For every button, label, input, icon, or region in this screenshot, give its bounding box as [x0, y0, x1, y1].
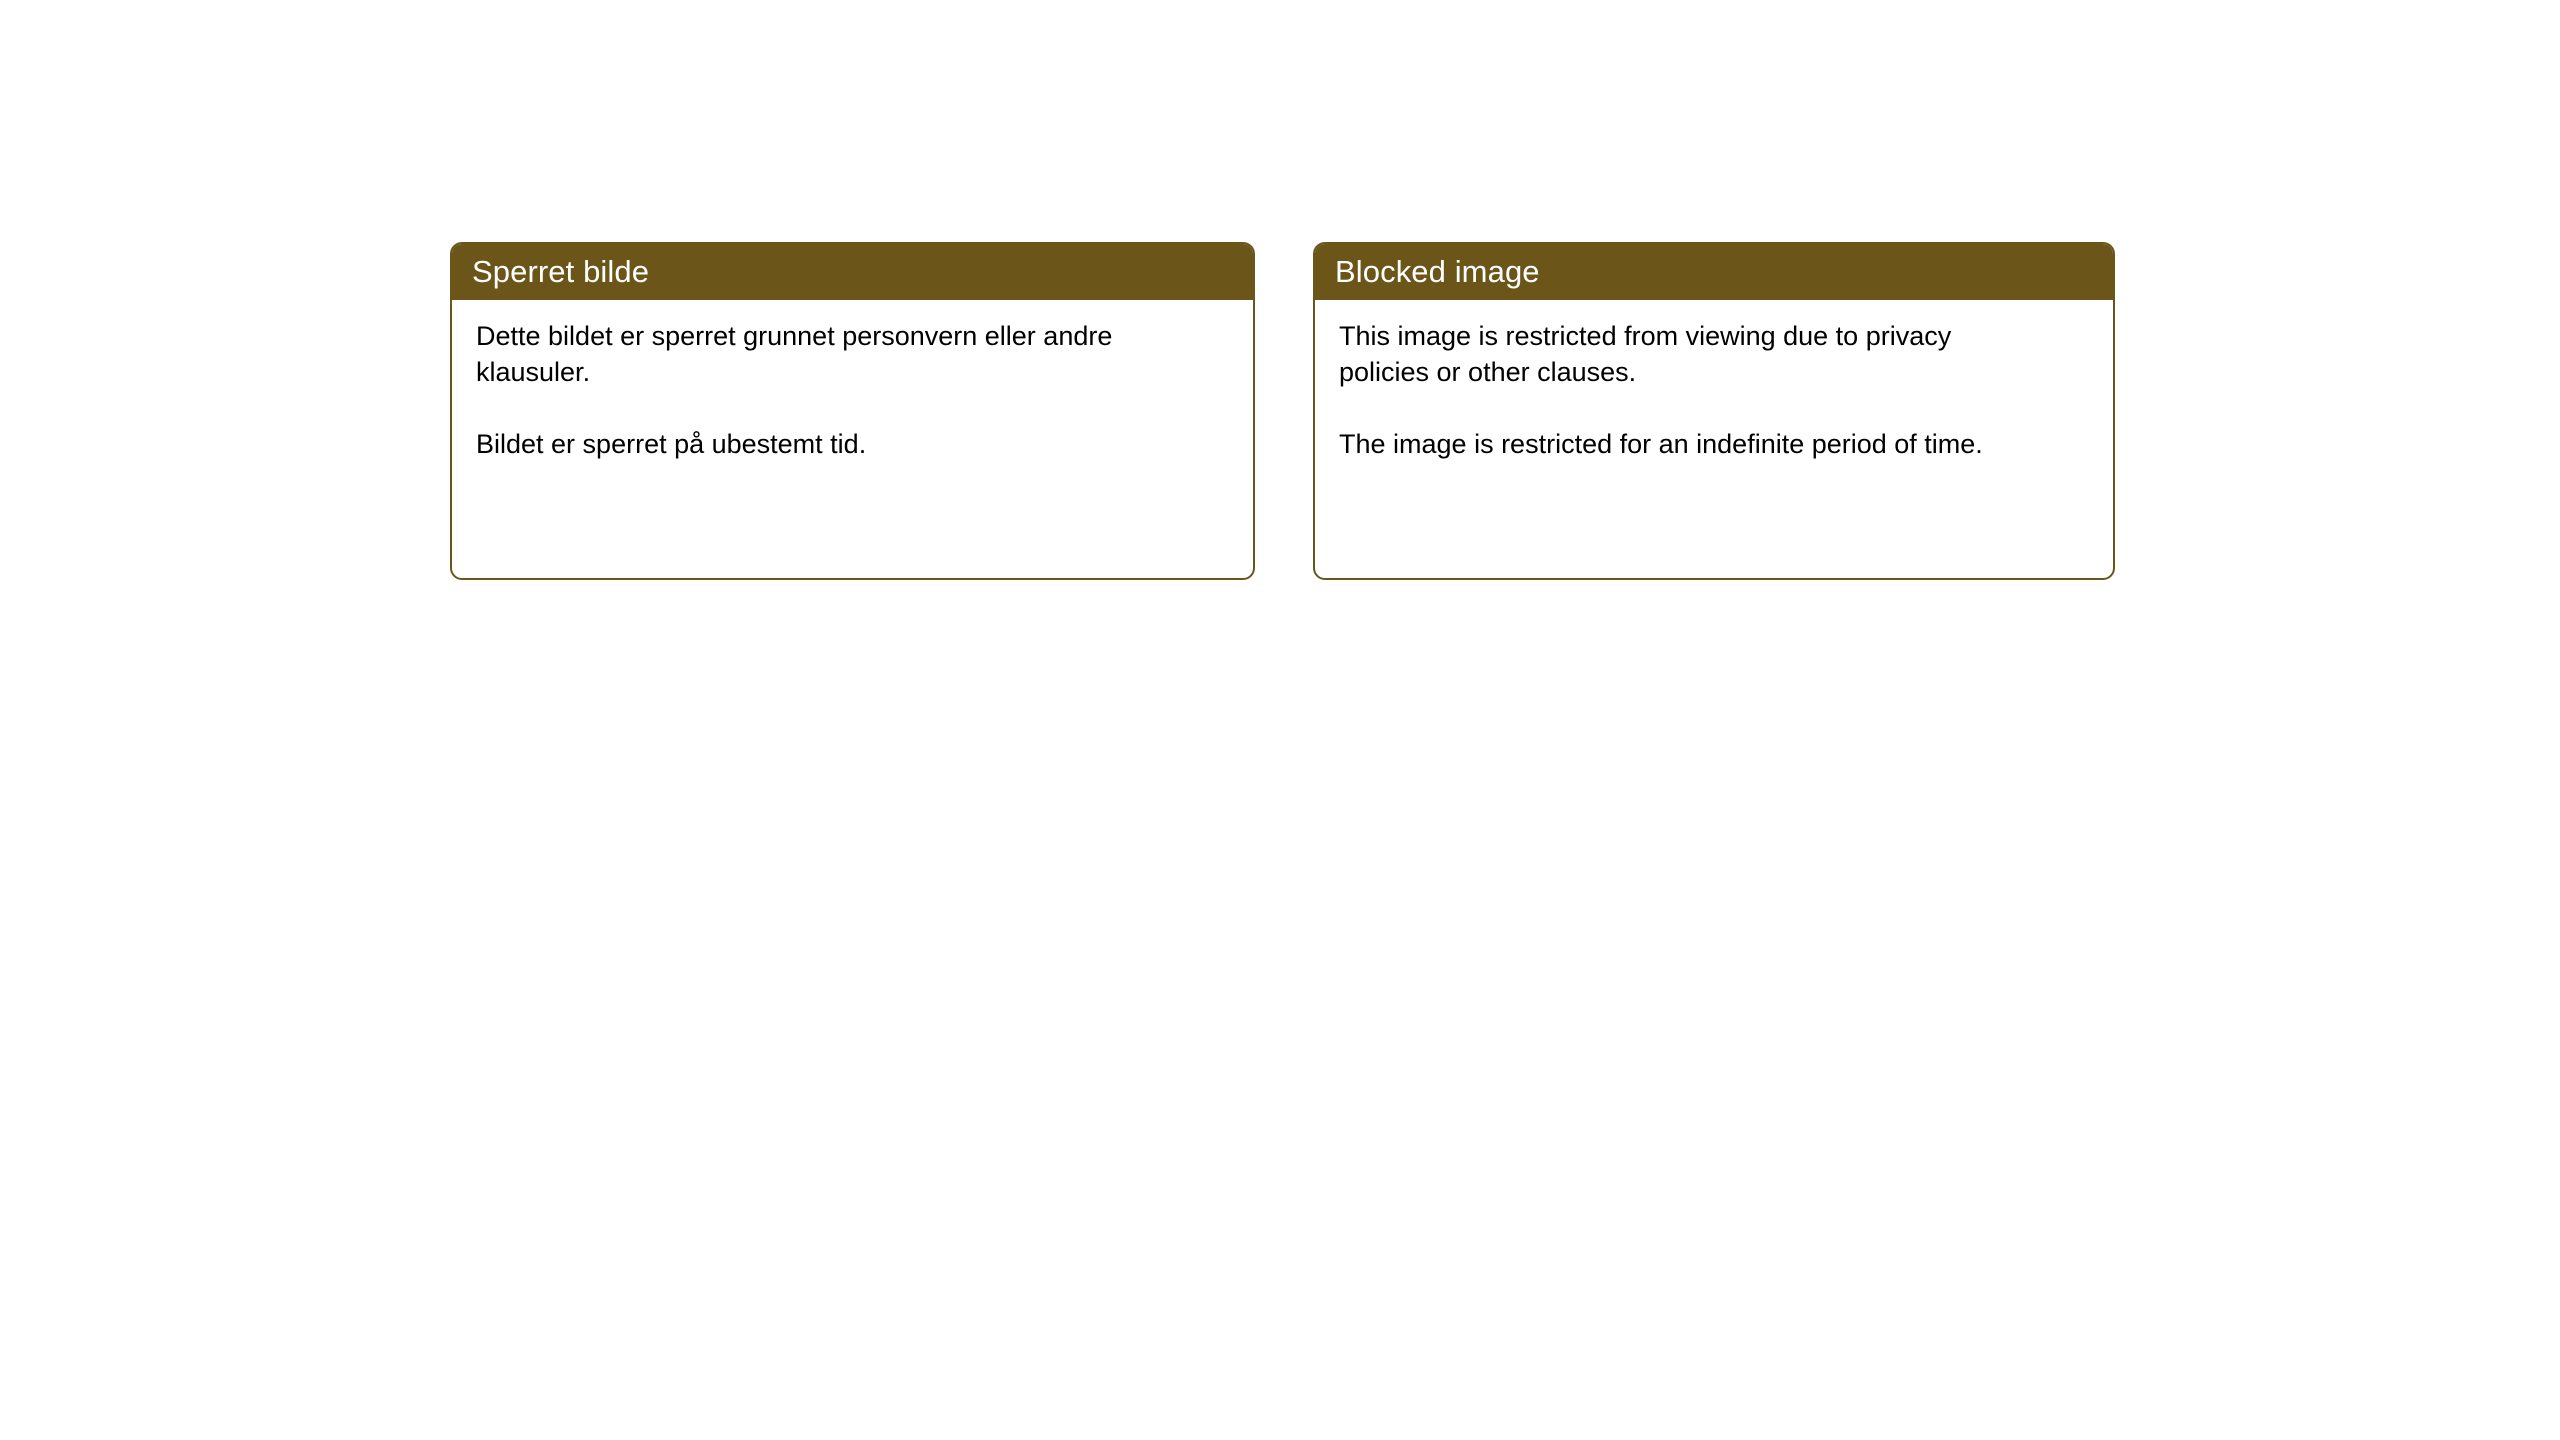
card-paragraph-duration-norwegian: Bildet er sperret på ubestemt tid.	[476, 426, 1176, 462]
page-canvas: Sperret bilde Dette bildet er sperret gr…	[0, 0, 2560, 1440]
card-header-norwegian: Sperret bilde	[450, 242, 1255, 300]
card-body-english: This image is restricted from viewing du…	[1315, 300, 2113, 463]
card-header-english: Blocked image	[1313, 242, 2115, 300]
card-paragraph-reason-english: This image is restricted from viewing du…	[1339, 318, 2039, 390]
card-title-english: Blocked image	[1335, 256, 1540, 287]
card-body-norwegian: Dette bildet er sperret grunnet personve…	[452, 300, 1253, 463]
blocked-image-card-english: Blocked image This image is restricted f…	[1313, 242, 2115, 580]
card-paragraph-reason-norwegian: Dette bildet er sperret grunnet personve…	[476, 318, 1176, 390]
blocked-image-card-norwegian: Sperret bilde Dette bildet er sperret gr…	[450, 242, 1255, 580]
card-title-norwegian: Sperret bilde	[472, 256, 649, 287]
card-paragraph-duration-english: The image is restricted for an indefinit…	[1339, 426, 2039, 462]
